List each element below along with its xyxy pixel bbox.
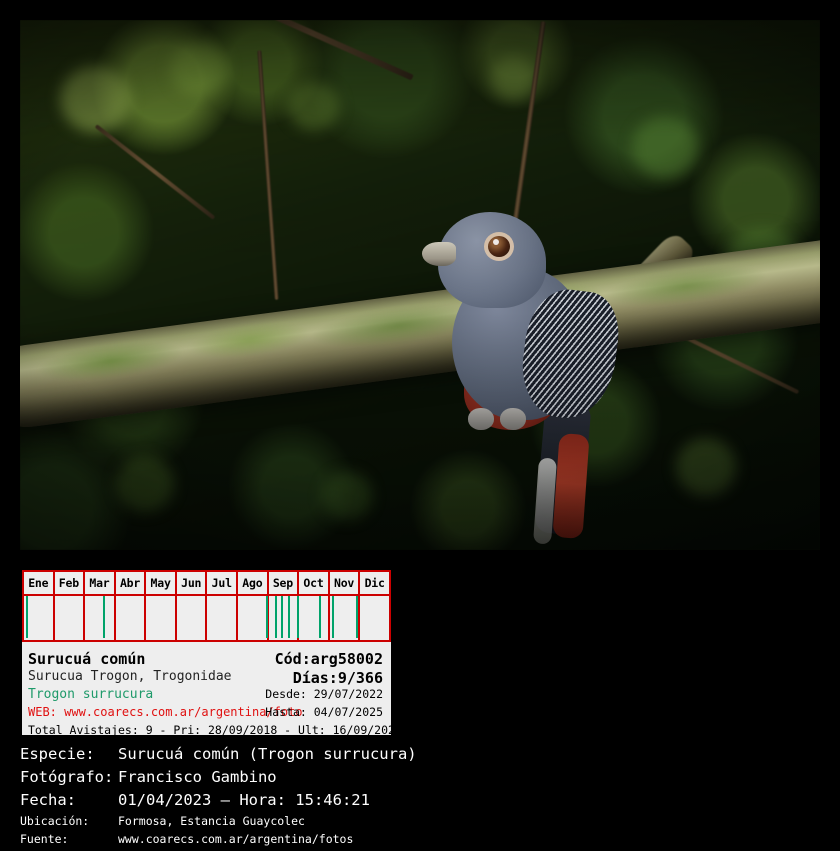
caption-row: Fotógrafo:Francisco Gambino <box>0 768 840 791</box>
calendar-month-oct: Oct <box>299 572 330 594</box>
sighting-bar <box>356 596 358 638</box>
species-code: Cód:arg58002 <box>275 650 383 668</box>
calendar-month-ago: Ago <box>238 572 269 594</box>
calendar-month-jun: Jun <box>177 572 208 594</box>
caption-value: Surucuá común (Trogon surrucura) <box>118 745 417 763</box>
calendar-month-jul: Jul <box>207 572 238 594</box>
species-days: Días:9/366 <box>293 669 383 687</box>
calendar-month-header: EneFebMarAbrMayJunJulAgoSepOctNovDic <box>22 570 391 596</box>
calendar-month-abr: Abr <box>116 572 147 594</box>
caption-label: Fuente: <box>20 832 68 846</box>
calendar-month-mar: Mar <box>85 572 116 594</box>
calendar-month-dic: Dic <box>360 572 391 594</box>
sighting-bar <box>266 596 268 638</box>
sighting-bar <box>275 596 277 638</box>
calendar-month-grid <box>22 596 391 640</box>
sightings-calendar: EneFebMarAbrMayJunJulAgoSepOctNovDic <box>22 570 391 648</box>
sighting-bar <box>288 596 290 638</box>
calendar-cell-oct <box>299 596 330 640</box>
calendar-cell-dic <box>360 596 391 640</box>
species-common-name: Surucuá común <box>28 650 145 668</box>
row-scientific-name: Trogon surrucura Desde: 29/07/2022 <box>28 687 385 705</box>
calendar-month-ene: Ene <box>22 572 55 594</box>
sighting-bar <box>103 596 105 638</box>
caption-row: Especie:Surucuá común (Trogon surrucura) <box>0 745 840 768</box>
photo-vignette <box>20 20 820 550</box>
species-scientific-name: Trogon surrucura <box>28 687 153 702</box>
sighting-bar <box>281 596 283 638</box>
caption-value: 01/04/2023 – Hora: 15:46:21 <box>118 791 370 809</box>
species-info-panel: EneFebMarAbrMayJunJulAgoSepOctNovDic Sur… <box>22 570 391 735</box>
caption-value: www.coarecs.com.ar/argentina/fotos <box>118 832 353 846</box>
caption-label: Especie: <box>20 745 95 763</box>
calendar-cell-jun <box>177 596 208 640</box>
caption-label: Fecha: <box>20 791 76 809</box>
calendar-month-feb: Feb <box>55 572 86 594</box>
caption-label: Ubicación: <box>20 814 89 828</box>
row-english-family: Surucua Trogon, Trogonidae Días:9/366 <box>28 669 385 687</box>
caption-row: Ubicación:Formosa, Estancia Guaycolec <box>0 814 840 832</box>
calendar-cell-abr <box>116 596 147 640</box>
calendar-month-nov: Nov <box>330 572 361 594</box>
species-date-until: Hasta: 04/07/2025 <box>265 705 383 719</box>
calendar-cell-jul <box>207 596 238 640</box>
species-date-from: Desde: 29/07/2022 <box>265 687 383 701</box>
row-total-sightings: Total Avistajes: 9 - Pri: 28/09/2018 - U… <box>28 723 385 741</box>
photo-caption: Especie:Surucuá común (Trogon surrucura)… <box>0 745 840 850</box>
caption-label: Fotógrafo: <box>20 768 113 786</box>
sighting-bar <box>26 596 28 638</box>
calendar-sighting-track <box>22 596 391 642</box>
sighting-bar <box>297 596 299 638</box>
row-common-name: Surucuá común Cód:arg58002 <box>28 651 385 669</box>
caption-value: Francisco Gambino <box>118 768 277 786</box>
calendar-month-may: May <box>146 572 177 594</box>
sighting-bar <box>319 596 321 638</box>
calendar-cell-sep <box>269 596 300 640</box>
species-english-family: Surucua Trogon, Trogonidae <box>28 669 232 684</box>
caption-row: Fuente:www.coarecs.com.ar/argentina/foto… <box>0 832 840 850</box>
caption-row: Fecha:01/04/2023 – Hora: 15:46:21 <box>0 791 840 814</box>
species-total-sightings: Total Avistajes: 9 - Pri: 28/09/2018 - U… <box>28 723 402 737</box>
calendar-cell-ago <box>238 596 269 640</box>
sighting-bar <box>332 596 334 638</box>
calendar-cell-feb <box>55 596 86 640</box>
species-details: Surucuá común Cód:arg58002 Surucua Trogo… <box>22 648 391 741</box>
calendar-cell-mar <box>85 596 116 640</box>
row-web: WEB: www.coarecs.com.ar/argentina/foto H… <box>28 705 385 723</box>
calendar-month-sep: Sep <box>269 572 300 594</box>
bird-photograph <box>20 20 820 550</box>
caption-value: Formosa, Estancia Guaycolec <box>118 814 305 828</box>
species-web-link[interactable]: WEB: www.coarecs.com.ar/argentina/foto <box>28 705 303 719</box>
calendar-cell-may <box>146 596 177 640</box>
